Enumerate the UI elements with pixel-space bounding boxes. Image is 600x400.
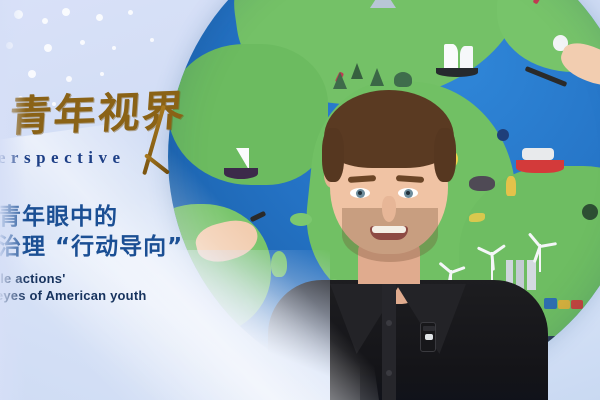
title-english-line-1: ngible actions': [0, 270, 264, 287]
left-edge-fade: [0, 0, 26, 400]
program-logo: th 青年视界 Perspective: [0, 86, 236, 103]
presenter-hair-side: [434, 128, 456, 182]
title-chinese-line-1: 国青年眼中的: [0, 202, 264, 232]
clip-on-microphone: [420, 322, 436, 352]
lower-third-titles: 国青年眼中的 球治理 “行动导向” ngible actions' the ey…: [0, 202, 264, 304]
presenter-eye: [398, 188, 418, 198]
shirt-button: [386, 320, 392, 326]
shirt-placket: [382, 284, 396, 400]
title-english-line-2: the eyes of American youth: [0, 287, 264, 304]
presenter-mouth: [370, 226, 408, 240]
presenter-nose: [382, 196, 396, 222]
presenter-eye: [350, 188, 370, 198]
video-frame: th 青年视界 Perspective 国青年眼中的 球治理 “行动导向” ng…: [0, 0, 600, 400]
shirt-button: [386, 370, 392, 376]
title-chinese-line-2: 球治理 “行动导向”: [0, 232, 264, 262]
